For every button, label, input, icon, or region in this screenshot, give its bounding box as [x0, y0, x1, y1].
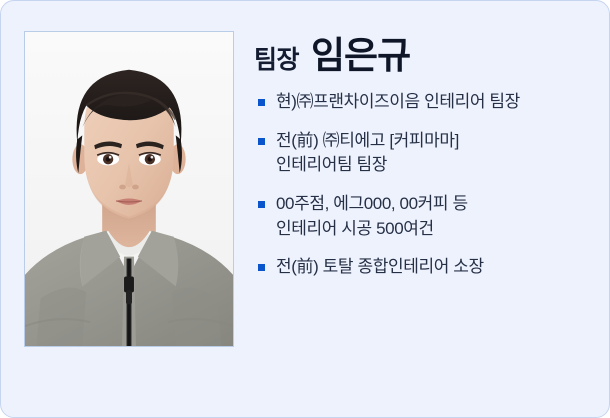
portrait-photo — [25, 32, 233, 346]
credential-line: 전(前) 토탈 종합인테리어 소장 — [276, 255, 592, 280]
credential-line: 인테리어 시공 500여건 — [276, 217, 592, 242]
list-item: 현)㈜프랜차이즈이음 인테리어 팀장 — [254, 90, 592, 115]
portrait-photo-illustration — [25, 32, 233, 346]
portrait-photo-frame — [24, 31, 234, 347]
role-title: 팀장 — [254, 40, 299, 76]
list-item: 전(前) 토탈 종합인테리어 소장 — [254, 255, 592, 280]
credential-line: 현)㈜프랜차이즈이음 인테리어 팀장 — [276, 90, 592, 115]
list-item: 전(前) ㈜티에고 [커피마마] 인테리어팀 팀장 — [254, 129, 592, 178]
credential-line: 전(前) ㈜티에고 [커피마마] — [276, 129, 592, 154]
profile-name-line: 팀장 임은규 — [254, 37, 592, 76]
bullet-square-icon — [258, 138, 265, 145]
credential-line: 인테리어팀 팀장 — [276, 153, 592, 178]
list-item: 00주점, 에그000, 00커피 등 인테리어 시공 500여건 — [254, 192, 592, 241]
bullet-square-icon — [258, 99, 265, 106]
profile-card: 팀장 임은규 현)㈜프랜차이즈이음 인테리어 팀장 전(前) ㈜티에고 [커피마… — [0, 0, 610, 418]
bullet-square-icon — [258, 264, 265, 271]
bullet-square-icon — [258, 201, 265, 208]
credential-line: 00주점, 에그000, 00커피 등 — [276, 192, 592, 217]
profile-info: 팀장 임은규 현)㈜프랜차이즈이음 인테리어 팀장 전(前) ㈜티에고 [커피마… — [254, 37, 592, 280]
person-name: 임은규 — [311, 37, 410, 74]
credentials-list: 현)㈜프랜차이즈이음 인테리어 팀장 전(前) ㈜티에고 [커피마마] 인테리어… — [254, 90, 592, 280]
